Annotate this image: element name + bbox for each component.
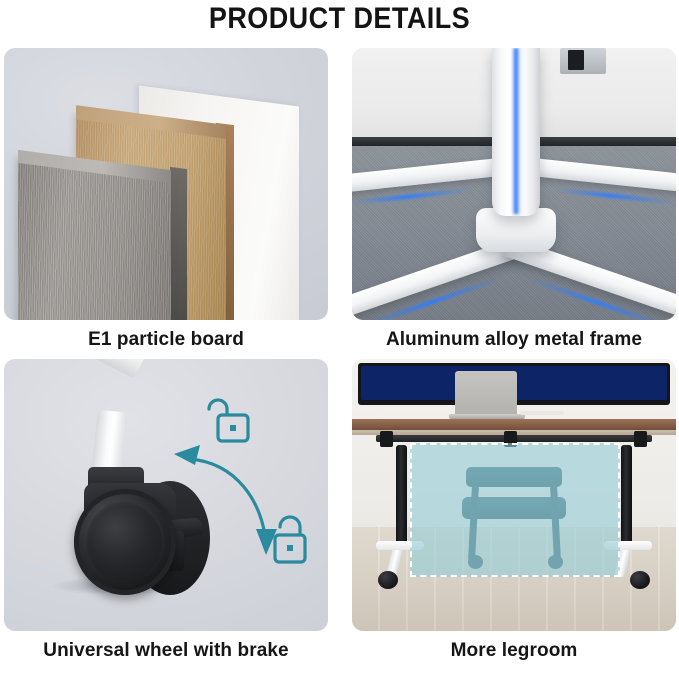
- laptop-lid: [455, 371, 517, 415]
- desk-bracket-left: [380, 431, 393, 447]
- desk-caster-left: [378, 571, 398, 589]
- product-detail-grid: E1 particle board Aluminum alloy metal f…: [0, 44, 679, 673]
- caption-universal-wheel: Universal wheel with brake: [4, 640, 328, 662]
- legroom-highlight-region: [410, 443, 620, 577]
- detail-card-particle-board: E1 particle board: [4, 48, 328, 351]
- more-legroom-image: [352, 359, 676, 631]
- detail-card-more-legroom: More legroom: [352, 359, 676, 662]
- gray-board: [18, 158, 171, 320]
- detail-card-universal-wheel: Universal wheel with brake: [4, 359, 328, 662]
- blue-glow-column: [512, 48, 520, 214]
- lock-icon: [275, 517, 305, 562]
- desk-leg-right: [621, 445, 632, 547]
- desk-bracket-right: [634, 431, 647, 447]
- toggle-arrow-curve: [190, 459, 266, 543]
- metal-frame-image: [352, 48, 676, 320]
- brake-annotation-group: [4, 359, 328, 631]
- caption-metal-frame: Aluminum alloy metal frame: [352, 329, 676, 351]
- unlock-icon: [209, 400, 248, 441]
- desk-caster-right: [630, 571, 650, 589]
- particle-board-image: [4, 48, 328, 320]
- desk-leg-left: [396, 445, 407, 547]
- toggle-arrow-head-left: [174, 445, 200, 465]
- background-monitor-screen: [568, 50, 584, 70]
- keyboard: [520, 411, 564, 415]
- page-title: PRODUCT DETAILS: [34, 2, 645, 36]
- universal-wheel-image: [4, 359, 328, 631]
- gray-board-edge: [170, 167, 187, 320]
- caption-more-legroom: More legroom: [352, 640, 676, 662]
- detail-card-metal-frame: Aluminum alloy metal frame: [352, 48, 676, 351]
- caption-particle-board: E1 particle board: [4, 329, 328, 351]
